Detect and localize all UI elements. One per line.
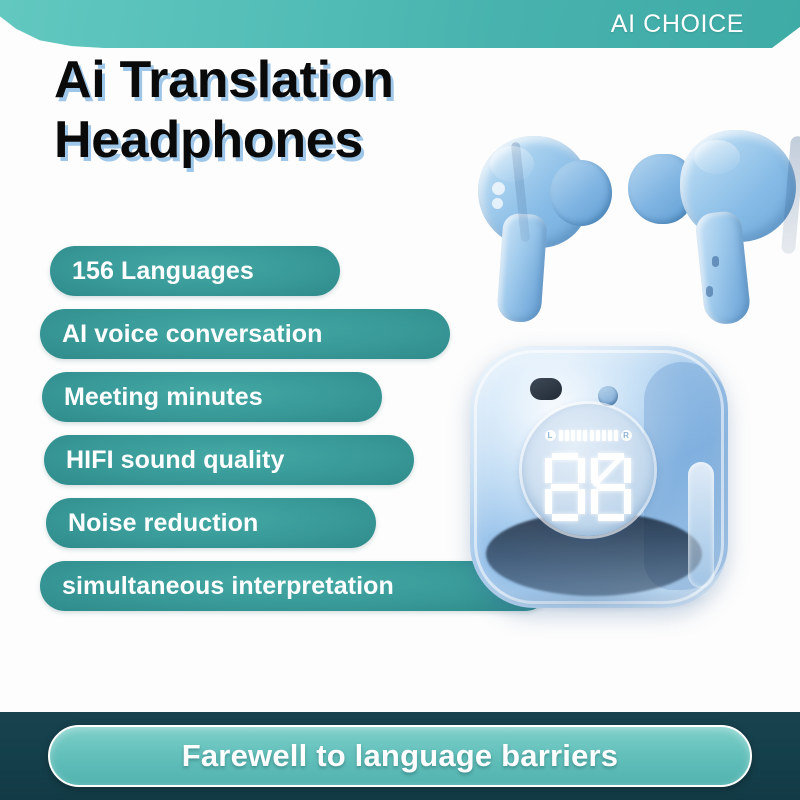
right-earbud-mic-dot-2 [706,286,713,297]
feature-pill-5[interactable]: Noise reduction [46,498,376,548]
footer-bar: Farewell to language barriers [0,712,800,800]
segment-se [545,489,552,514]
tagline-text: Farewell to language barriers [182,738,619,774]
right-channel-label: R [621,430,632,441]
segment-sd [598,514,624,521]
segment-sd [552,514,578,521]
feature-pill-2[interactable]: AI voice conversation [40,309,450,359]
left-battery-bar [583,430,587,441]
feature-pill-4[interactable]: HIFI sound quality [44,435,414,485]
case-led-display: L R [522,404,654,536]
top-banner: AI CHOICE [0,0,800,48]
seven-segment-digit [591,453,631,521]
right-earbud-highlight [694,140,740,174]
feature-pill-label: simultaneous interpretation [62,572,394,601]
charging-case: L R [470,346,728,608]
segment-sf [545,458,552,483]
feature-pill-label: AI voice conversation [62,320,323,349]
tagline-pill: Farewell to language barriers [48,725,752,787]
feature-pill-label: 156 Languages [72,257,254,286]
right-earbud-mic-dot [712,256,719,267]
left-battery-bar [577,430,581,441]
left-battery-bars [559,430,587,441]
battery-indicator-row: L R [522,429,654,442]
case-drop-shadow [482,588,712,614]
feature-pill-3[interactable]: Meeting minutes [42,372,382,422]
left-earbud-highlight [490,146,534,182]
right-battery-bar [602,430,606,441]
segment-sg [551,484,579,491]
seven-segment-digit [545,453,585,521]
segment-sc [578,489,585,514]
page-title: Ai Translation Headphones [54,52,524,169]
feature-pill-label: Meeting minutes [64,383,263,412]
feature-pill-label: Noise reduction [68,509,258,538]
left-earbud-sensor-dot-2 [492,198,503,209]
left-earbud-eartip [550,160,612,226]
title-line-1: Ai Translation [54,52,524,109]
battery-percent-digits [522,450,654,524]
left-battery-bar [565,430,569,441]
segment-sg [597,484,625,491]
right-earbud [628,128,800,328]
segment-sa [552,453,578,460]
segment-sc [624,489,631,514]
left-battery-bar [571,430,575,441]
product-image: L R [462,118,800,628]
feature-pill-label: HIFI sound quality [66,446,284,475]
right-battery-bar [590,430,594,441]
right-battery-bars [590,430,618,441]
right-battery-bar [596,430,600,441]
left-battery-bar [559,430,563,441]
feature-pill-1[interactable]: 156 Languages [50,246,340,296]
left-earbud [474,136,634,326]
segment-sb [624,458,631,483]
right-battery-bar [608,430,612,441]
ai-choice-label: AI CHOICE [611,5,744,43]
left-earbud-sensor-dot [492,182,505,195]
title-line-2: Headphones [54,112,524,169]
product-ad-page: AI CHOICE Ai Translation Headphones 156 … [0,0,800,800]
right-battery-bar [614,430,618,441]
left-channel-label: L [545,430,556,441]
segment-sb [578,458,585,483]
segment-se [591,489,598,514]
